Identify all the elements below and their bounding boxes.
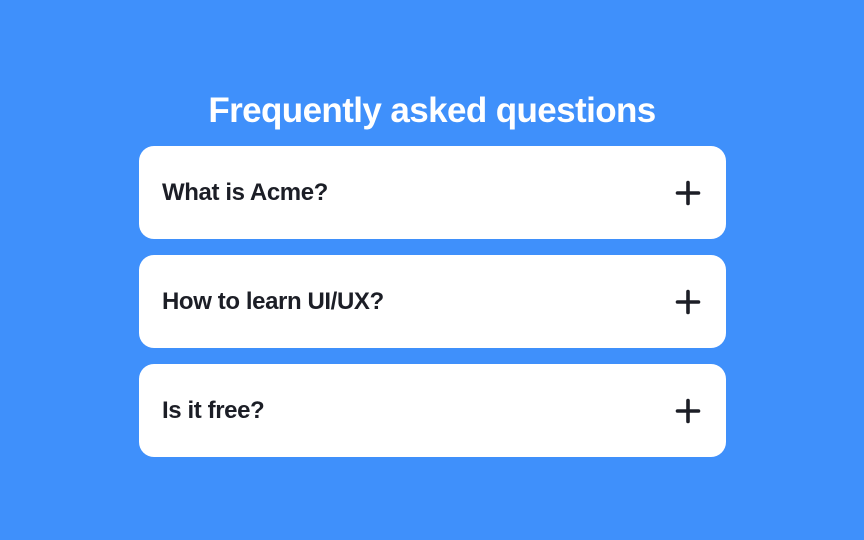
plus-icon[interactable] bbox=[675, 289, 701, 315]
faq-question-label: What is Acme? bbox=[162, 178, 328, 208]
faq-question-label: Is it free? bbox=[162, 396, 264, 426]
faq-question-label: How to learn UI/UX? bbox=[162, 287, 384, 317]
faq-section: Frequently asked questions What is Acme?… bbox=[0, 0, 864, 540]
plus-icon[interactable] bbox=[675, 180, 701, 206]
faq-item-1[interactable]: How to learn UI/UX? bbox=[139, 255, 726, 348]
faq-list: What is Acme? How to learn UI/UX? Is it … bbox=[139, 146, 726, 457]
plus-icon[interactable] bbox=[675, 398, 701, 424]
faq-item-0[interactable]: What is Acme? bbox=[139, 146, 726, 239]
faq-item-2[interactable]: Is it free? bbox=[139, 364, 726, 457]
page-title: Frequently asked questions bbox=[0, 89, 864, 133]
